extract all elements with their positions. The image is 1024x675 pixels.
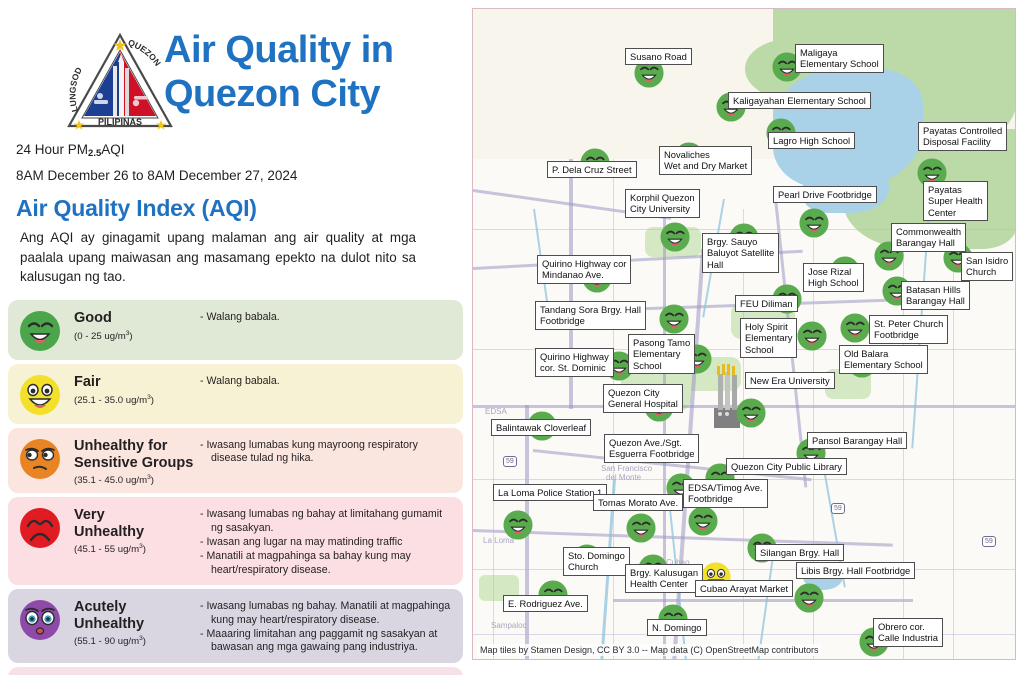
station-label[interactable]: New Era University [745,372,835,389]
station-marker[interactable] [687,505,719,537]
legend-row-acutely: AcutelyUnhealthy(55.1 - 90 ug/m3)Iwasang… [8,589,463,663]
legend-advice-list: Iwasang lumabas ng bahay. Manatili at ma… [194,596,455,656]
map-road-aurora [613,599,913,602]
station-label[interactable]: Brgy. Kalusugan Health Center [625,564,703,593]
subtitle-prefix: 24 Hour PM [16,142,88,157]
left-information-panel: LUNGSOD QUEZON PILIPINAS Air Quality in … [0,0,470,675]
station-label[interactable]: Quezon Ave./Sgt. Esguerra Footbridge [604,434,699,463]
station-label[interactable]: Silangan Brgy. Hall [755,544,844,561]
legend-advice-list: Walang babala. [194,307,455,325]
station-marker[interactable] [502,509,534,541]
station-label[interactable]: Tandang Sora Brgy. Hall Footbridge [535,301,646,330]
station-label[interactable]: Novaliches Wet and Dry Market [659,146,752,175]
pm25-subtitle: 24 Hour PM2.5AQI [16,140,456,163]
station-label[interactable]: Brgy. Sauyo Baluyot Satellite Hall [702,233,779,273]
station-label[interactable]: St. Peter Church Footbridge [869,315,948,344]
aqi-face-shocked-wide-eyes [18,598,62,642]
aqi-face-happy-closed-eyes [18,309,62,353]
aqi-face-happy-closed-eyes [502,509,534,541]
legend-row-emergency: Emergency(Above 91 ug/m3)Ang lahat ay da… [8,667,463,675]
aqi-face-happy-closed-eyes [687,505,719,537]
legend-advice-item: Iwasang lumabas kung mayroong respirator… [200,439,455,466]
map-route-shield: 59 [831,503,845,514]
station-label[interactable]: Old Balara Elementary School [839,345,928,374]
station-label[interactable]: Jose Rizal High School [803,263,864,292]
station-label[interactable]: Quezon City General Hospital [603,384,683,413]
legend-concentration-range: (55.1 - 90 ug/m3) [74,635,194,647]
station-label[interactable]: Quirino Highway cor Mindanao Ave. [537,255,631,284]
legend-label-group: AcutelyUnhealthy(55.1 - 90 ug/m3) [62,596,194,647]
legend-row-fair: Fair(25.1 - 35.0 ug/m3)Walang babala. [8,364,463,424]
map-route-shield: 59 [503,456,517,467]
station-marker[interactable] [798,207,830,239]
aqi-face-happy-closed-eyes [625,512,657,544]
aqi-face-smiling-open-eyes [18,373,62,417]
station-label[interactable]: Pasong Tamo Elementary School [628,334,695,374]
aqi-face-worried-sideways-eyes [18,437,62,481]
aqi-face-happy-closed-eyes [798,207,830,239]
aqi-face-sad-frown [18,506,62,550]
seal-text-pilipinas: PILIPINAS [98,117,142,127]
legend-advice-item: Walang babala. [200,311,455,324]
station-marker[interactable] [793,582,825,614]
station-label[interactable]: Korphil Quezon City University [625,189,700,218]
quezon-city-seal-icon: LUNGSOD QUEZON PILIPINAS [64,30,176,134]
legend-advice-item: Iwasang lumabas ng bahay at limitahang g… [200,508,455,535]
map-place-label: EDSA [485,407,507,416]
legend-advice-list: Iwasang lumabas kung mayroong respirator… [194,435,455,467]
map-road-minor [953,269,954,660]
aqi-legend: Good(0 - 25 ug/m3)Walang babala.Fair(25.… [8,300,463,675]
station-label[interactable]: Payatas Super Health Center [923,181,988,221]
legend-concentration-range: (45.1 - 55 ug/m3) [74,543,194,555]
station-marker[interactable] [625,512,657,544]
station-label[interactable]: La Loma Police Station 1 [493,484,607,501]
legend-advice-list: Iwasang lumabas ng bahay at limitahang g… [194,504,455,578]
aqi-face-happy-closed-eyes [796,320,828,352]
station-label[interactable]: Pearl Drive Footbridge [773,186,877,203]
aqi-face-icon [18,373,62,417]
legend-category-title: Good [74,310,194,327]
station-label[interactable]: EDSA/Timog Ave. Footbridge [683,479,768,508]
station-label[interactable]: Susano Road [625,48,692,65]
subtitle-block: 24 Hour PM2.5AQI 8AM December 26 to 8AM … [16,140,456,185]
legend-category-title: AcutelyUnhealthy [74,599,194,632]
map-route-shield: 59 [982,536,996,547]
legend-advice-item: Walang babala. [200,375,455,388]
legend-category-title: VeryUnhealthy [74,507,194,540]
legend-advice-item: Iwasan ang lugar na may matinding traffi… [200,536,455,549]
station-label[interactable]: Maligaya Elementary School [795,44,884,73]
legend-concentration-range: (35.1 - 45.0 ug/m3) [74,474,194,486]
map-place-label: del Monte [606,473,641,482]
legend-label-group: VeryUnhealthy(45.1 - 55 ug/m3) [62,504,194,555]
quezon-city-map[interactable]: EDSALa LomaSan Franciscodel MonteCubaoSa… [472,8,1016,660]
station-label[interactable]: P. Dela Cruz Street [547,161,637,178]
station-label[interactable]: Quirino Highway cor. St. Dominic [535,348,614,377]
station-marker[interactable] [796,320,828,352]
station-label[interactable]: Kaligayahan Elementary School [728,92,871,109]
legend-category-title: Unhealthy forSensitive Groups [74,438,194,471]
map-place-label: San Francisco [601,464,652,473]
station-label[interactable]: San Isidro Church [961,252,1013,281]
station-label[interactable]: Cubao Arayat Market [695,580,793,597]
legend-row-very: VeryUnhealthy(45.1 - 55 ug/m3)Iwasang lu… [8,497,463,585]
map-road-minor [473,569,1016,570]
station-label[interactable]: Payatas Controlled Disposal Facility [918,122,1007,151]
legend-category-title: Fair [74,374,194,391]
title-line-1: Air Quality in [164,28,474,72]
aqi-face-happy-closed-eyes [735,397,767,429]
station-label[interactable]: E. Rodriguez Ave. [503,595,588,612]
header: LUNGSOD QUEZON PILIPINAS Air Quality in … [14,22,464,144]
legend-advice-item: Manatili at magpahinga sa bahay kung may… [200,550,455,577]
station-marker[interactable] [658,303,690,335]
legend-row-unhealthy-for: Unhealthy forSensitive Groups(35.1 - 45.… [8,428,463,493]
station-label[interactable]: Quezon City Public Library [726,458,847,475]
station-label[interactable]: Commonwealth Barangay Hall [891,223,966,252]
date-range: 8AM December 26 to 8AM December 27, 2024 [16,166,456,185]
station-label[interactable]: Lagro High School [768,132,855,149]
legend-row-good: Good(0 - 25 ug/m3)Walang babala. [8,300,463,360]
aqi-face-icon [18,437,62,481]
aqi-face-happy-closed-eyes [839,312,871,344]
legend-advice-list: Walang babala. [194,371,455,389]
aqi-face-happy-closed-eyes [793,582,825,614]
station-label[interactable]: Tomas Morato Ave. [593,494,683,511]
map-road-minor [903,249,904,660]
station-label[interactable]: Obrero cor. Calle Industria [873,618,943,647]
station-label[interactable]: N. Domingo [647,619,707,636]
legend-advice-item: Maaaring limitahan ang paggamit ng sasak… [200,628,455,655]
legend-concentration-range: (0 - 25 ug/m3) [74,330,194,342]
legend-concentration-range: (25.1 - 35.0 ug/m3) [74,394,194,406]
legend-label-group: Fair(25.1 - 35.0 ug/m3) [62,371,194,406]
station-marker[interactable] [735,397,767,429]
station-label[interactable]: Holy Spirit Elementary School [740,318,797,358]
station-marker[interactable] [839,312,871,344]
map-attribution: Map tiles by Stamen Design, CC BY 3.0 --… [477,644,821,656]
subtitle-suffix: AQI [101,142,124,157]
subtitle-subscript: 2.5 [88,148,101,159]
infographic-root: LUNGSOD QUEZON PILIPINAS Air Quality in … [0,0,1024,675]
title-line-2: Quezon City [164,72,474,116]
map-canvas: EDSALa LomaSan Franciscodel MonteCubaoSa… [473,9,1015,659]
page-title: Air Quality in Quezon City [164,28,474,116]
legend-label-group: Unhealthy forSensitive Groups(35.1 - 45.… [62,435,194,486]
aqi-face-icon [18,309,62,353]
station-label[interactable]: FEU Diliman [735,295,798,312]
station-label[interactable]: Balintawak Cloverleaf [491,419,591,436]
aqi-section-description: Ang AQI ay ginagamit upang malaman ang a… [20,228,416,287]
aqi-face-happy-closed-eyes [658,303,690,335]
station-label[interactable]: Libis Brgy. Hall Footbridge [796,562,915,579]
map-place-label: Sampaloc [491,621,527,630]
legend-label-group: Good(0 - 25 ug/m3) [62,307,194,342]
aqi-section-heading: Air Quality Index (AQI) [16,195,257,222]
aqi-face-happy-closed-eyes [659,221,691,253]
aqi-face-icon [18,506,62,550]
station-label[interactable]: Batasan Hills Barangay Hall [901,281,970,310]
legend-advice-item: Iwasang lumabas ng bahay. Manatili at ma… [200,600,455,627]
station-marker[interactable] [659,221,691,253]
station-label[interactable]: Pansol Barangay Hall [807,432,907,449]
aqi-face-icon [18,598,62,642]
station-label[interactable]: Sto. Domingo Church [563,547,630,576]
